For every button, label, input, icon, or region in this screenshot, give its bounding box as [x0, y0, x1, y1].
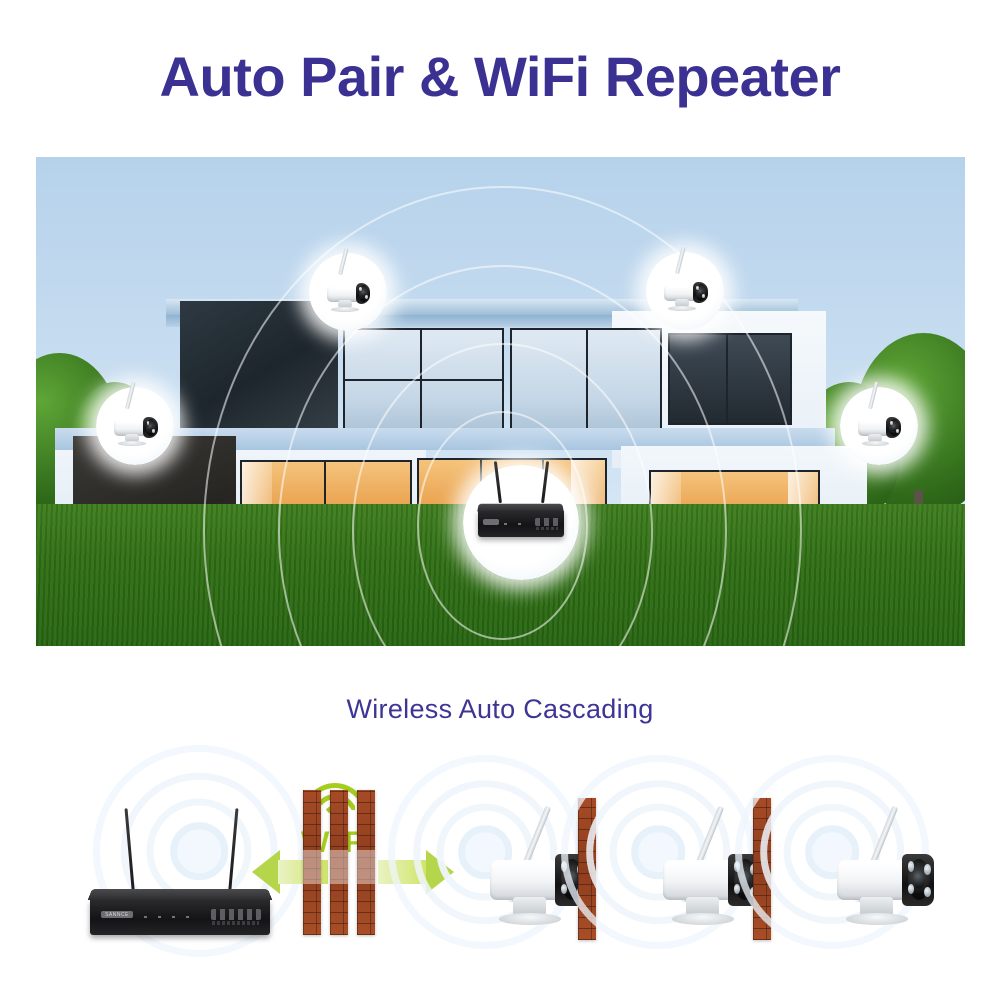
camera-mount-plate — [331, 307, 359, 312]
camera-label: Camera 1 — [463, 810, 464, 811]
camera-ir-led — [924, 864, 931, 875]
camera-mount-plate — [668, 306, 696, 311]
camera-ir-led — [924, 887, 931, 898]
badge-camera-mid-right[interactable]: Camera — [840, 387, 918, 465]
nvr-front-face: SANNCE — [90, 900, 270, 935]
wall-3 — [357, 790, 375, 935]
hero-photo: Camera Camera — [36, 157, 965, 646]
nvr-led-row — [504, 523, 526, 525]
wireless-bullet-camera — [846, 399, 912, 452]
nvr-port-block — [535, 518, 559, 526]
nvr-top-face — [88, 889, 272, 900]
wireless-bullet-camera — [103, 399, 169, 452]
badge-camera-top-left[interactable]: Camera — [309, 253, 387, 331]
product-feature-page: Auto Pair & WiFi Repeater — [0, 0, 1000, 1000]
nvr-port-block — [211, 909, 261, 920]
nvr-led-row — [144, 916, 191, 919]
camera-ir-led — [365, 295, 368, 299]
wireless-nvr-recorder — [478, 497, 563, 548]
nvr-model-text — [536, 527, 558, 530]
camera-mount-plate — [862, 441, 890, 446]
nvr-brand-logo — [483, 519, 498, 525]
nvr-front-face — [478, 511, 563, 536]
badge-camera-mid-left[interactable]: Camera — [96, 387, 174, 465]
camera-ir-led — [896, 429, 899, 433]
nvr-model-text — [212, 921, 259, 925]
camera-mount-plate — [118, 441, 146, 446]
camera-label: Camera 3 — [810, 810, 811, 811]
camera-lens — [913, 869, 925, 889]
badge-nvr-center[interactable]: NVR — [463, 465, 578, 580]
wall-1 — [303, 790, 321, 935]
cascading-diagram: SANNCE Wi-Fi — [0, 752, 1000, 1000]
camera-ir-led — [890, 421, 893, 425]
section-subtitle: Wireless Auto Cascading — [0, 694, 1000, 725]
nvr-brand-logo: SANNCE — [101, 911, 133, 919]
diagram-camera-3[interactable]: Camera 3 — [810, 810, 958, 942]
arrow-head-left-icon — [252, 850, 280, 894]
camera-mount-plate — [672, 913, 734, 925]
wireless-bullet-camera — [653, 264, 719, 317]
badge-camera-top-right[interactable]: Camera — [646, 252, 724, 330]
diagram-nvr[interactable]: SANNCE — [90, 880, 270, 950]
nvr-antenna-left — [494, 461, 502, 504]
camera-mount-plate — [846, 913, 908, 925]
camera-mount-plate — [499, 913, 561, 925]
page-title: Auto Pair & WiFi Repeater — [0, 48, 1000, 107]
wall-2 — [330, 790, 348, 935]
wireless-bullet-camera — [315, 265, 381, 318]
camera-label: Camera 2 — [636, 810, 637, 811]
